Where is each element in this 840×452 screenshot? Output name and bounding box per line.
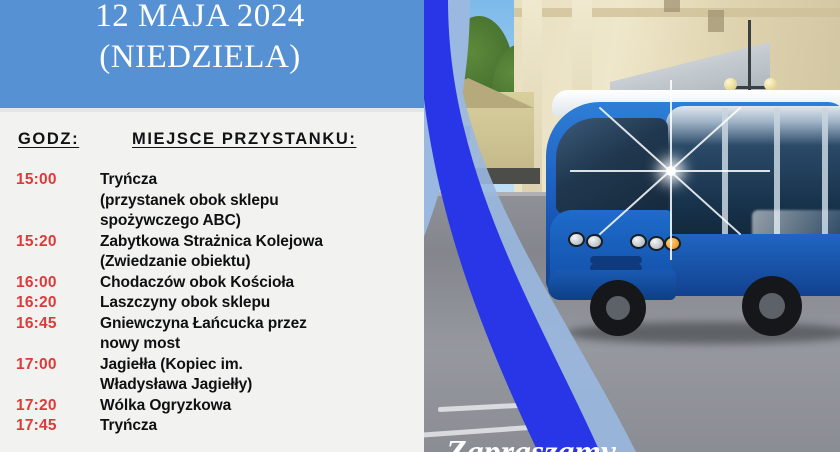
- stop-place: Jagiełła (Kopiec im. Władysława Jagiełły…: [100, 355, 252, 396]
- poster-canvas: 12 MAJA 2024 (NIEDZIELA) GODZ:MIEJSCE PR…: [0, 0, 840, 452]
- headlight: [568, 232, 585, 247]
- turn-signal: [664, 236, 681, 251]
- stop-time: 17:00: [16, 355, 100, 376]
- wall-niche: [664, 0, 680, 12]
- place-column-header: MIEJSCE PRZYSTANKU:: [132, 130, 356, 149]
- house-window: [454, 126, 470, 140]
- schedule-panel: GODZ:MIEJSCE PRZYSTANKU: 15:00Tryńcza (p…: [0, 112, 424, 452]
- stop-place: Zabytkowa Strażnica Kolejowa (Zwiedzanie…: [100, 232, 323, 273]
- schedule-row: 15:20Zabytkowa Strażnica Kolejowa (Zwied…: [16, 232, 424, 273]
- headlight: [630, 234, 647, 249]
- schedule-row: 17:20Wólka Ogryzkowa: [16, 396, 424, 417]
- front-grille: [590, 256, 642, 264]
- windshield: [556, 118, 668, 214]
- stop-time: 17:45: [16, 416, 100, 437]
- stop-time: 17:20: [16, 396, 100, 417]
- stop-time: 16:45: [16, 314, 100, 335]
- stop-time: 16:20: [16, 293, 100, 314]
- date-line-2: (NIEDZIELA): [0, 37, 400, 78]
- schedule-row: 16:45Gniewczyna Łańcucka przez nowy most: [16, 314, 424, 355]
- electric-bus: [546, 84, 840, 336]
- headlight: [648, 236, 665, 251]
- fence: [410, 168, 540, 184]
- schedule-row: 15:00Tryńcza (przystanek obok sklepu spo…: [16, 170, 424, 232]
- bus-photo: [396, 0, 840, 452]
- sun-glare: [666, 166, 676, 176]
- column-headers: GODZ:MIEJSCE PRZYSTANKU:: [18, 130, 418, 149]
- stop-place: Chodaczów obok Kościoła: [100, 273, 294, 294]
- stop-time: 16:00: [16, 273, 100, 294]
- stop-place: Wólka Ogryzkowa: [100, 396, 231, 417]
- wall-niche: [708, 10, 724, 32]
- time-column-header: GODZ:: [18, 130, 116, 149]
- date-line-1: 12 MAJA 2024: [0, 0, 400, 37]
- schedule-list: 15:00Tryńcza (przystanek obok sklepu spo…: [16, 170, 424, 437]
- schedule-row: 16:00Chodaczów obok Kościoła: [16, 273, 424, 294]
- poster-date-title: 12 MAJA 2024 (NIEDZIELA): [0, 0, 400, 78]
- parking-line: [438, 401, 558, 412]
- stop-place: Gniewczyna Łańcucka przez nowy most: [100, 314, 307, 355]
- stop-place: Tryńcza: [100, 416, 157, 437]
- stop-place: Tryńcza (przystanek obok sklepu spożywcz…: [100, 170, 279, 232]
- wheel-hub: [606, 296, 630, 320]
- header-band: 12 MAJA 2024 (NIEDZIELA): [0, 0, 424, 108]
- headlight: [586, 234, 603, 249]
- footer-script-text: Zapraszamy: [446, 436, 786, 452]
- schedule-row: 17:00Jagiełła (Kopiec im. Władysława Jag…: [16, 355, 424, 396]
- stop-time: 15:20: [16, 232, 100, 253]
- schedule-row: 17:45Tryńcza: [16, 416, 424, 437]
- wheel-hub: [759, 293, 785, 319]
- stop-place: Laszczyny obok sklepu: [100, 293, 270, 314]
- stop-time: 15:00: [16, 170, 100, 191]
- schedule-row: 16:20Laszczyny obok sklepu: [16, 293, 424, 314]
